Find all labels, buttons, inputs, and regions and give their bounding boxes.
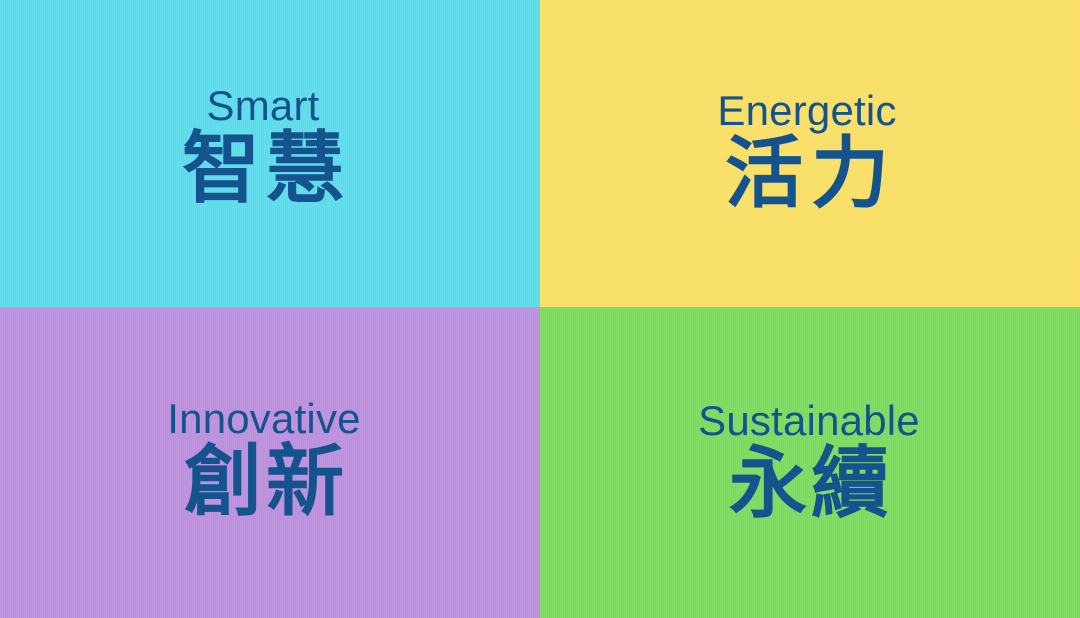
quadrant-sustainable[interactable]: Sustainable 永續 — [540, 307, 1080, 618]
quadrant-sustainable-label-zh: 永續 — [725, 444, 893, 522]
quadrant-energetic-label-en: Energetic — [717, 90, 896, 132]
quadrant-smart-label-en: Smart — [206, 85, 319, 127]
quadrant-energetic-textblock: Energetic 活力 — [717, 90, 897, 212]
quadrant-innovative[interactable]: Innovative 創新 — [0, 307, 540, 618]
quadrant-smart[interactable]: Smart 智慧 — [0, 0, 540, 307]
brand-values-grid: Smart 智慧 Energetic 活力 Innovative 創新 Sust… — [0, 0, 1080, 618]
quadrant-energetic[interactable]: Energetic 活力 — [540, 0, 1080, 307]
quadrant-energetic-label-zh: 活力 — [717, 134, 897, 212]
quadrant-innovative-textblock: Innovative 創新 — [167, 398, 360, 520]
quadrant-innovative-label-zh: 創新 — [180, 442, 348, 520]
quadrant-sustainable-textblock: Sustainable 永續 — [698, 400, 920, 522]
quadrant-smart-label-zh: 智慧 — [176, 129, 350, 207]
quadrant-innovative-label-en: Innovative — [167, 398, 360, 440]
quadrant-sustainable-label-en: Sustainable — [698, 400, 920, 442]
quadrant-smart-textblock: Smart 智慧 — [176, 85, 350, 207]
